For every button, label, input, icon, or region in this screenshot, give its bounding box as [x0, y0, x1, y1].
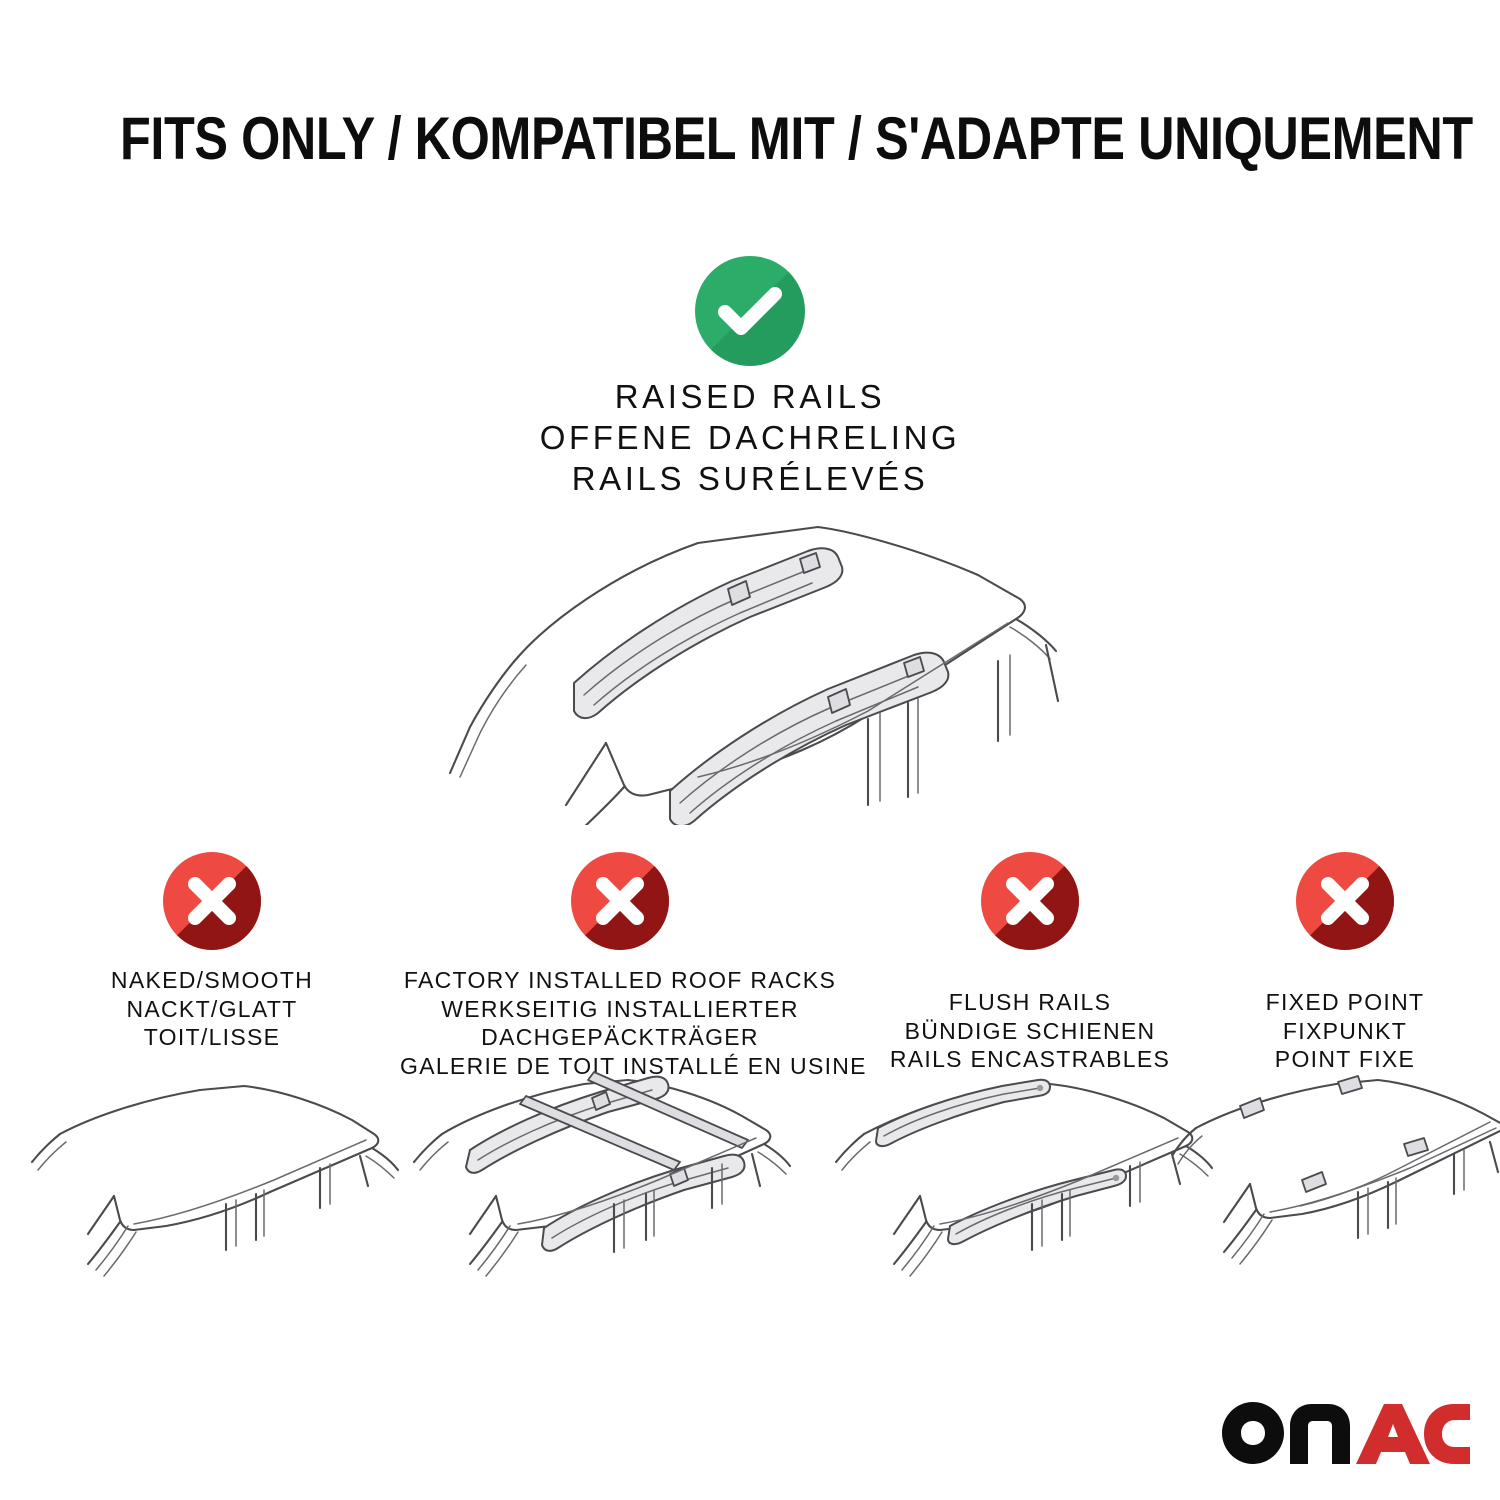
- incompatible-label-line: FLUSH RAILS: [845, 988, 1215, 1017]
- cross-circle-icon: [163, 852, 261, 950]
- car-roof-fixed-point-illustration: [1172, 1060, 1500, 1295]
- incompatible-label-line: FIXED POINT: [1205, 988, 1485, 1017]
- incompatible-label-line: DACHGEPÄCKTRÄGER: [400, 1023, 840, 1052]
- car-roof-raised-rails-illustration: [398, 505, 1102, 825]
- incompatible-label-line: NAKED/SMOOTH: [22, 966, 402, 995]
- car-roof-naked-smooth-illustration: [30, 1062, 400, 1297]
- check-circle-icon: [695, 256, 805, 366]
- cross-glyph: [981, 852, 1079, 950]
- logo-letter-o: [1222, 1402, 1284, 1464]
- incompatible-item-flush-rails: FLUSH RAILS BÜNDIGE SCHIENEN RAILS ENCAS…: [845, 852, 1215, 1074]
- cross-glyph: [163, 852, 261, 950]
- logo-letter-c: [1424, 1404, 1470, 1464]
- incompatible-label-line: FIXPUNKT: [1205, 1017, 1485, 1046]
- badge-wrap: [1205, 852, 1485, 950]
- incompatible-item-fixed-point: FIXED POINT FIXPUNKT POINT FIXE: [1205, 852, 1485, 1074]
- cross-glyph: [1296, 852, 1394, 950]
- car-roof-factory-roof-racks-illustration: [408, 1058, 808, 1298]
- incompatible-label-line: TOIT/LISSE: [22, 1023, 402, 1052]
- compatible-label-line: OFFENE DACHRELING: [0, 417, 1500, 458]
- page-title: FITS ONLY / KOMPATIBEL MIT / S'ADAPTE UN…: [120, 104, 1380, 173]
- incompatible-label-line: WERKSEITIG INSTALLIERTER: [400, 995, 840, 1024]
- incompatible-label-block: FLUSH RAILS BÜNDIGE SCHIENEN RAILS ENCAS…: [845, 988, 1215, 1074]
- cross-circle-icon: [1296, 852, 1394, 950]
- badge-wrap: [22, 852, 402, 950]
- infographic-page: FITS ONLY / KOMPATIBEL MIT / S'ADAPTE UN…: [0, 0, 1500, 1500]
- cross-circle-icon: [981, 852, 1079, 950]
- badge-wrap: [400, 852, 840, 950]
- incompatible-label-line: FACTORY INSTALLED ROOF RACKS: [400, 966, 840, 995]
- logo-letter-a: [1356, 1404, 1430, 1464]
- badge-wrap: [845, 852, 1215, 950]
- compatible-label-block: RAISED RAILS OFFENE DACHRELING RAILS SUR…: [0, 376, 1500, 499]
- omac-logo: [1222, 1402, 1470, 1464]
- cross-circle-icon: [571, 852, 669, 950]
- logo-letter-m: [1290, 1404, 1350, 1464]
- check-glyph: [695, 256, 805, 366]
- cross-glyph: [571, 852, 669, 950]
- incompatible-label-line: NACKT/GLATT: [22, 995, 402, 1024]
- incompatible-item-factory-roof-racks: FACTORY INSTALLED ROOF RACKS WERKSEITIG …: [400, 852, 840, 1080]
- incompatible-label-line: BÜNDIGE SCHIENEN: [845, 1017, 1215, 1046]
- car-roof-flush-rails-illustration: [832, 1062, 1222, 1297]
- incompatible-item-naked-smooth: NAKED/SMOOTH NACKT/GLATT TOIT/LISSE: [22, 852, 402, 1052]
- compatible-label-line: RAISED RAILS: [0, 376, 1500, 417]
- compatible-label-line: RAILS SURÉLEVÉS: [0, 458, 1500, 499]
- incompatible-label-block: NAKED/SMOOTH NACKT/GLATT TOIT/LISSE: [22, 966, 402, 1052]
